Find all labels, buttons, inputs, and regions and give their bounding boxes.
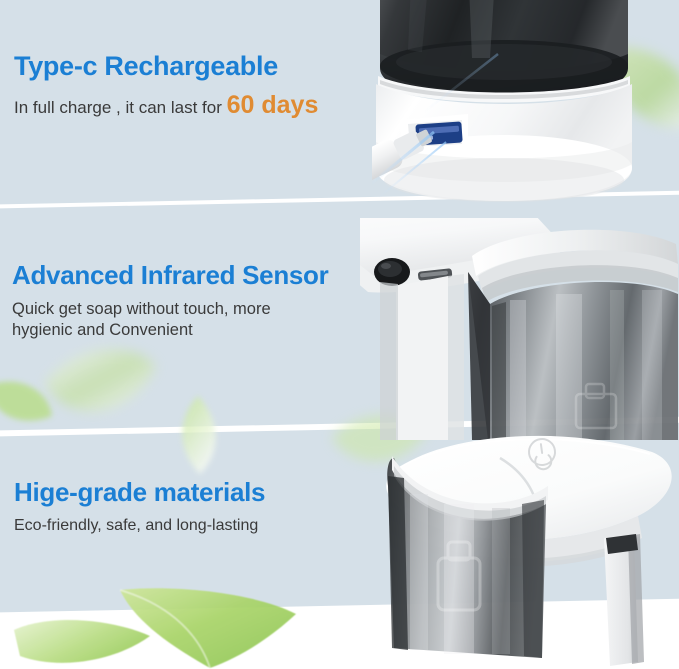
- feature-heading-3: Hige-grade materials: [14, 479, 265, 507]
- feature-highlight-60-days: 60 days: [227, 91, 319, 119]
- green-leaf-icon: [14, 612, 154, 669]
- feature-subtext-2-line-2: hygienic and Convenient: [12, 320, 342, 341]
- feature-subtext-1-before: In full charge , it can last for: [14, 98, 227, 117]
- infographic-canvas: Type-c Rechargeable In full charge , it …: [0, 0, 679, 669]
- feature-subtext-2: Quick get soap without touch, more hygie…: [12, 299, 342, 342]
- feature-block-3: Hige-grade materials Eco-friendly, safe,…: [14, 479, 265, 536]
- feature-subtext-1: In full charge , it can last for 60 days: [14, 89, 318, 122]
- feature-subtext-2-line-1: Quick get soap without touch, more: [12, 299, 342, 320]
- feature-subtext-3: Eco-friendly, safe, and long-lasting: [14, 516, 265, 537]
- product-image-materials: [352, 412, 679, 669]
- product-image-rechargeable: [372, 0, 679, 207]
- product-image-infrared-sensor: [360, 218, 679, 440]
- feature-block-2: Advanced Infrared Sensor Quick get soap …: [12, 262, 342, 341]
- feature-block-1: Type-c Rechargeable In full charge , it …: [14, 52, 318, 121]
- feature-heading-1: Type-c Rechargeable: [14, 52, 318, 81]
- feature-heading-2: Advanced Infrared Sensor: [12, 262, 342, 290]
